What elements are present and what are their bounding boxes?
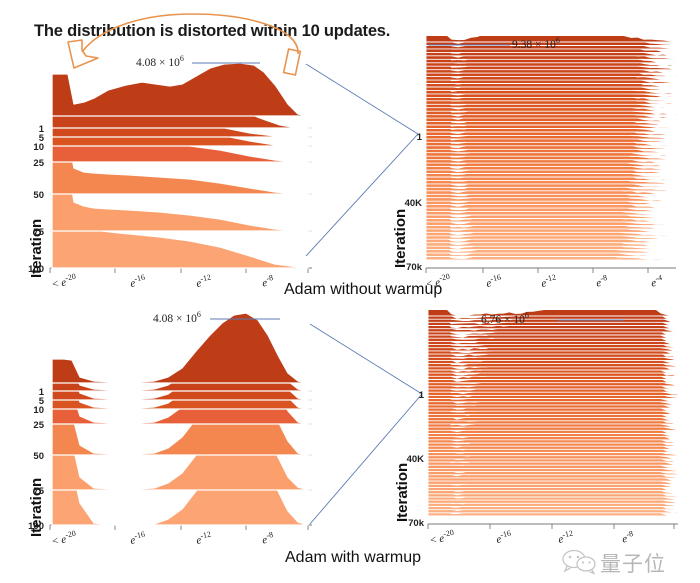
ytick-top-left-10: 10: [14, 142, 44, 153]
xtick-bottom-left-1: e-16: [129, 530, 147, 547]
ytick-bottom-left-75: 75: [14, 486, 44, 497]
xtick-bottom-right-0: < e-20: [429, 528, 456, 547]
xtick-bottom-left-0: < e-20: [51, 529, 78, 548]
ytick-bottom-left-100: 100: [10, 521, 44, 532]
ytick-top-right-1: 1: [400, 132, 422, 143]
ytick-top-left-50: 50: [14, 190, 44, 201]
panel-bottom-right: Iteration 1 40K 70k < e-20: [360, 310, 700, 550]
peak-leader-bottom-left: [210, 315, 282, 323]
peak-leader-top-right: [428, 41, 512, 49]
ytick-bottom-right-70k: 70k: [390, 518, 424, 529]
peak-label-top-left: 4.08 × 106: [136, 54, 184, 69]
ytick-bottom-right-1: 1: [402, 390, 424, 401]
peak-label-top-right: 9.38 × 106: [512, 36, 560, 51]
peak-label-bottom-left: 4.08 × 106: [153, 310, 201, 325]
ytick-top-right-70k: 70k: [388, 262, 422, 273]
ytick-top-left-75: 75: [14, 227, 44, 238]
ridgeline-top-right: [426, 36, 676, 276]
ytick-bottom-left-10: 10: [14, 405, 44, 416]
watermark: 量子位: [600, 548, 666, 578]
ytick-top-left-100: 100: [10, 264, 44, 275]
caption-bottom: Adam with warmup: [285, 549, 421, 567]
xtick-top-left-1: e-16: [129, 273, 147, 290]
xtick-bottom-left-2: e-12: [195, 530, 213, 547]
ridgeline-bottom-right: [428, 310, 678, 532]
caption-top: Adam without warmup: [284, 281, 442, 299]
axis-label-iteration-top-right: Iteration: [392, 209, 409, 268]
xtick-bottom-right-3: e-8: [621, 529, 635, 546]
peak-leader-top-left: [192, 59, 262, 67]
ytick-bottom-right-40k: 40K: [390, 454, 424, 465]
peak-leader-bottom-right: [558, 316, 626, 324]
ytick-bottom-left-25: 25: [14, 420, 44, 431]
figure-root: The distribution is distorted within 10 …: [0, 0, 700, 583]
xtick-top-right-1: e-16: [485, 273, 503, 290]
ridgeline-top-left: [50, 46, 312, 278]
xtick-top-left-0: < e-20: [51, 272, 78, 291]
panel-top-right: Iteration 1 40K 70k < e-20: [360, 36, 700, 286]
ytick-top-left-25: 25: [14, 158, 44, 169]
xtick-top-left-3: e-8: [261, 273, 275, 290]
wechat-icon: [562, 550, 596, 574]
xtick-bottom-right-2: e-12: [557, 529, 575, 546]
peak-label-bottom-right: 6.76 × 106: [481, 311, 529, 326]
ridgeline-bottom-left: [50, 325, 312, 537]
ytick-bottom-left-50: 50: [14, 451, 44, 462]
xtick-bottom-left-3: e-8: [261, 530, 275, 547]
watermark-text: 量子位: [600, 552, 666, 576]
axis-label-iteration-bottom-right: Iteration: [394, 463, 411, 522]
xtick-top-right-2: e-12: [540, 273, 558, 290]
panel-top-left: Iteration 1 5 10 25 50 75 100: [0, 46, 320, 296]
xtick-top-left-2: e-12: [195, 273, 213, 290]
xtick-bottom-right-1: e-16: [495, 529, 513, 546]
xtick-top-right-3: e-8: [595, 273, 609, 290]
xtick-top-right-4: e-4: [650, 273, 664, 290]
panel-bottom-left: Iteration 1 5 10 25 50 75 100: [0, 325, 320, 557]
ytick-top-right-40k: 40K: [388, 198, 422, 209]
